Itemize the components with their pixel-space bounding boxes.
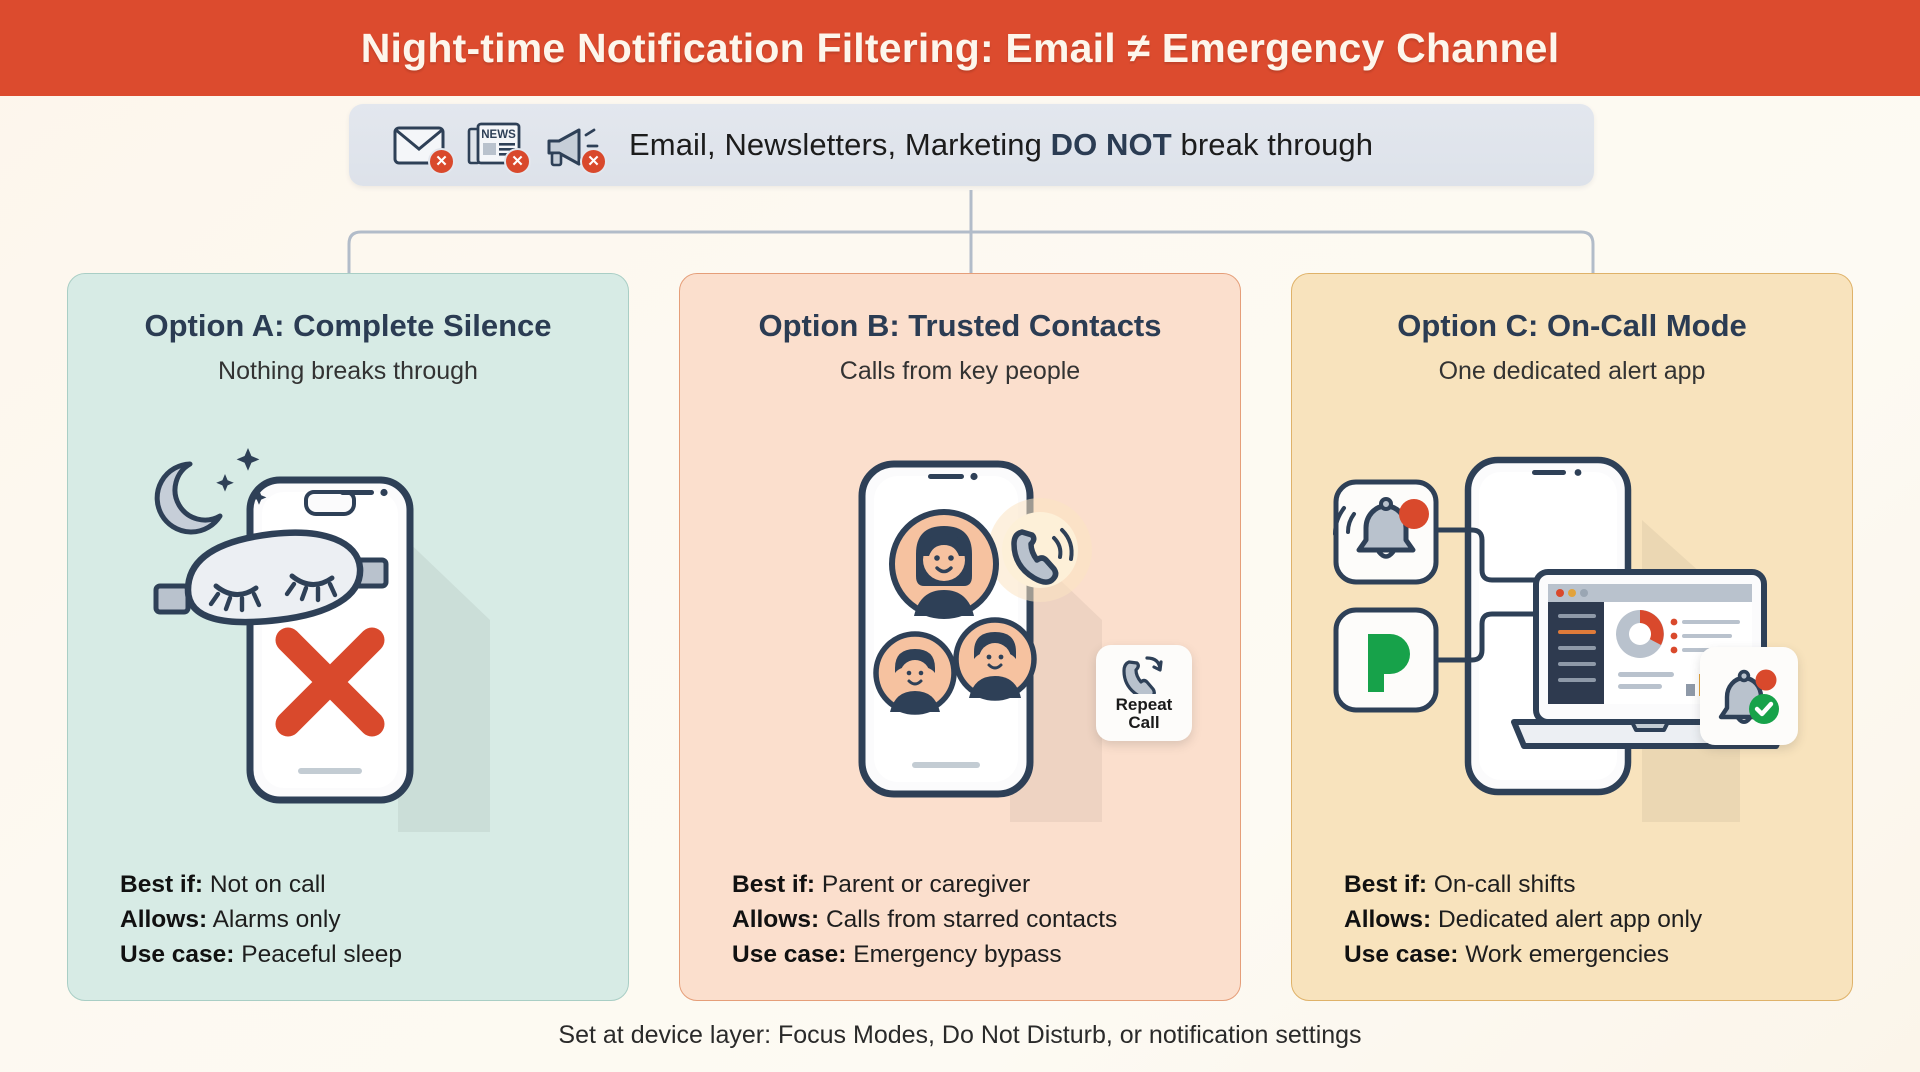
option-card-c[interactable]: Option C: On-Call Mode One dedicated ale… [1291, 273, 1853, 1001]
option-a-use-case-label: Use case: [120, 941, 234, 968]
blocked-channels-banner: ✕ NEWS ✕ [349, 104, 1594, 186]
option-c-use-case-value: Work emergencies [1465, 941, 1669, 968]
option-a-use-case: Use case: Peaceful sleep [120, 937, 598, 972]
option-c-subtitle: One dedicated alert app [1439, 357, 1706, 386]
options-row: Option A: Complete Silence Nothing break… [0, 273, 1920, 1001]
option-b-best-if-label: Best if: [732, 871, 815, 898]
megaphone-icon: ✕ [541, 117, 603, 173]
option-a-best-if-label: Best if: [120, 871, 203, 898]
repeat-call-chip[interactable]: RepeatCall [1096, 645, 1192, 741]
svg-text:NEWS: NEWS [481, 129, 516, 141]
option-b-illustration: RepeatCall [710, 386, 1210, 867]
option-card-a[interactable]: Option A: Complete Silence Nothing break… [67, 273, 629, 1001]
option-c-best-if: Best if: On-call shifts [1344, 867, 1822, 902]
newspaper-icon: NEWS ✕ [465, 117, 527, 173]
option-b-use-case-label: Use case: [732, 941, 846, 968]
page-title: Night-time Notification Filtering: Email… [361, 25, 1560, 72]
option-b-allows-label: Allows: [732, 906, 819, 933]
option-a-details: Best if: Not on call Allows: Alarms only… [98, 867, 598, 1000]
repeat-call-line2: Call [1128, 713, 1159, 732]
option-b-title: Option B: Trusted Contacts [759, 308, 1162, 344]
option-c-details: Best if: On-call shifts Allows: Dedicate… [1322, 867, 1822, 1000]
option-a-best-if-value: Not on call [210, 871, 326, 898]
option-b-use-case: Use case: Emergency bypass [732, 937, 1210, 972]
banner-text-emphasis: DO NOT [1051, 127, 1172, 162]
banner-text-before: Email, Newsletters, Marketing [629, 127, 1051, 162]
option-b-use-case-value: Emergency bypass [853, 941, 1061, 968]
option-card-b[interactable]: Option B: Trusted Contacts Calls from ke… [679, 273, 1241, 1001]
blocked-channel-icons: ✕ NEWS ✕ [389, 117, 603, 173]
option-a-subtitle: Nothing breaks through [218, 357, 478, 386]
option-c-illustration [1322, 386, 1822, 867]
option-a-use-case-value: Peaceful sleep [241, 941, 402, 968]
repeat-call-icon [1121, 654, 1167, 694]
blocked-badge-icon: ✕ [504, 148, 531, 175]
alert-app-allowed-chip[interactable] [1700, 647, 1798, 745]
option-b-allows-value: Calls from starred contacts [826, 906, 1117, 933]
filter-banner-wrapper: ✕ NEWS ✕ [0, 96, 1920, 194]
option-c-best-if-value: On-call shifts [1434, 871, 1576, 898]
envelope-icon: ✕ [389, 117, 451, 173]
option-b-details: Best if: Parent or caregiver Allows: Cal… [710, 867, 1210, 1000]
option-c-allows-label: Allows: [1344, 906, 1431, 933]
repeat-call-chip-label: RepeatCall [1116, 696, 1173, 732]
option-b-subtitle: Calls from key people [840, 357, 1080, 386]
repeat-call-line1: Repeat [1116, 695, 1173, 714]
option-a-allows-label: Allows: [120, 906, 207, 933]
option-c-use-case-label: Use case: [1344, 941, 1458, 968]
blocked-badge-icon: ✕ [428, 148, 455, 175]
bell-allowed-icon [1716, 664, 1782, 728]
option-c-best-if-label: Best if: [1344, 871, 1427, 898]
option-b-allows: Allows: Calls from starred contacts [732, 902, 1210, 937]
page-header: Night-time Notification Filtering: Email… [0, 0, 1920, 96]
blocked-channels-text: Email, Newsletters, Marketing DO NOT bre… [629, 127, 1373, 163]
option-c-use-case: Use case: Work emergencies [1344, 937, 1822, 972]
option-a-allows: Allows: Alarms only [120, 902, 598, 937]
option-a-allows-value: Alarms only [213, 906, 341, 933]
option-b-best-if: Best if: Parent or caregiver [732, 867, 1210, 902]
option-c-allows: Allows: Dedicated alert app only [1344, 902, 1822, 937]
blocked-badge-icon: ✕ [580, 148, 607, 175]
banner-text-after: break through [1172, 127, 1373, 162]
footer-note: Set at device layer: Focus Modes, Do Not… [0, 1021, 1920, 1050]
option-c-allows-value: Dedicated alert app only [1438, 906, 1702, 933]
option-a-best-if: Best if: Not on call [120, 867, 598, 902]
option-c-title: Option C: On-Call Mode [1397, 308, 1747, 344]
option-b-best-if-value: Parent or caregiver [822, 871, 1030, 898]
option-a-title: Option A: Complete Silence [144, 308, 551, 344]
option-a-illustration [98, 386, 598, 867]
